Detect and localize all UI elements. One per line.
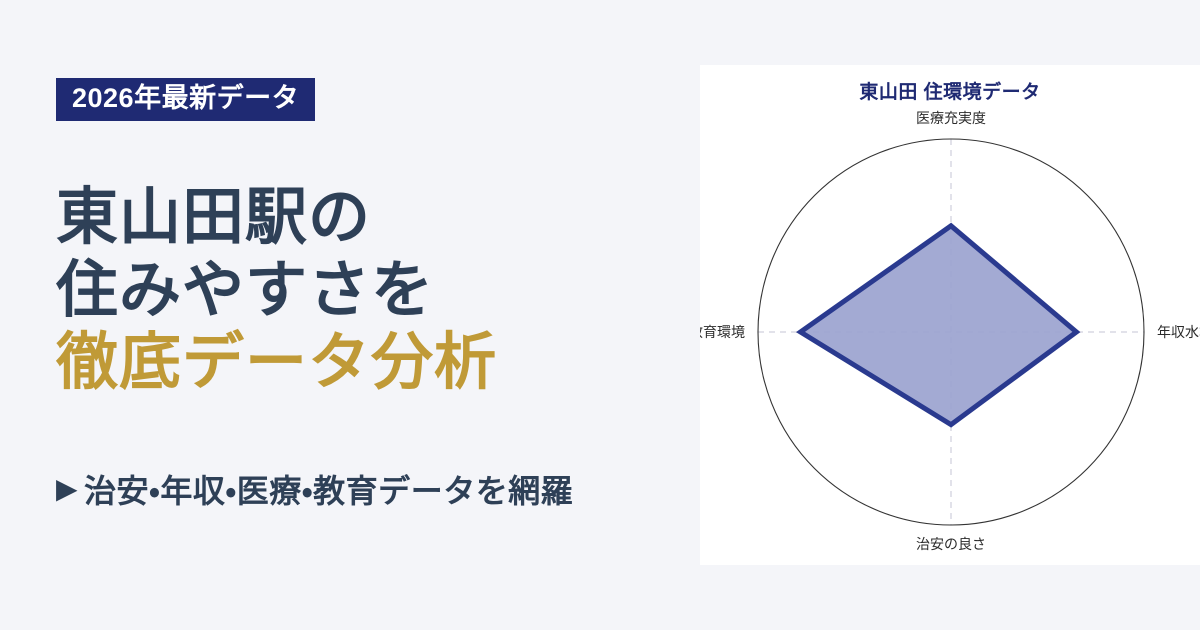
radar-chart-panel: 東山田 住環境データ 医療充実度 年収水準 治安の良さ 教育環境 [700,65,1200,565]
subtitle-text: 治安・年収・医療・教育データを網羅 [84,466,573,512]
radar-data-polygon [801,226,1077,425]
axis-label-right: 年収水準 [1157,324,1200,340]
latest-data-badge: 2026年最新データ [56,78,315,121]
headline-line-1: 東山田駅の [56,182,696,255]
axis-label-bottom: 治安の良さ [916,536,986,552]
subtitle: ▶ 治安・年収・医療・教育データを網羅 [56,466,573,512]
headline-line-3-highlight: 徹底データ分析 [56,327,696,400]
page-title: 東山田駅の 住みやすさを 徹底データ分析 [56,182,696,400]
headline-line-2: 住みやすさを [56,255,696,328]
radar-chart-svg: 医療充実度 年収水準 治安の良さ 教育環境 [700,65,1200,565]
axis-label-left: 教育環境 [700,324,745,340]
axis-label-top: 医療充実度 [916,110,986,126]
play-triangle-icon: ▶ [56,475,78,503]
hero-text-column: 2026年最新データ 東山田駅の 住みやすさを 徹底データ分析 ▶ 治安・年収・… [56,0,696,630]
